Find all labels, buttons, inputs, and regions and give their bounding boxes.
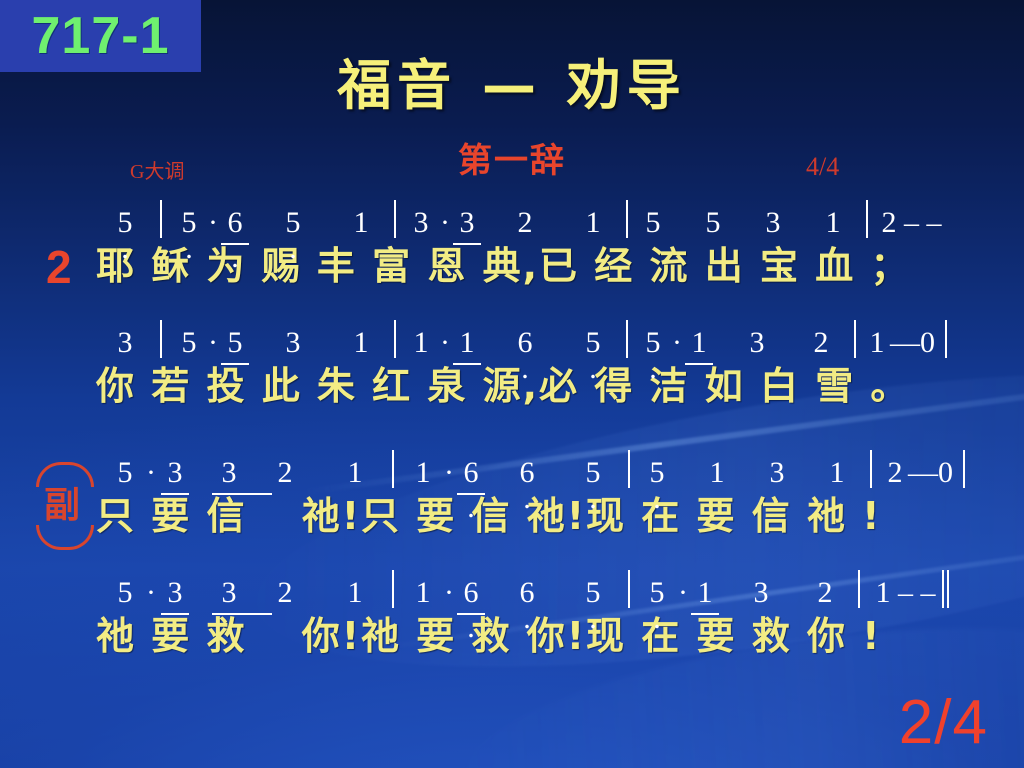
key-signature-label: G大调 [130,155,184,184]
slide-canvas: 717-1 福音 — 劝导 第一辞 G大调 4/4 2 副 5. 5. · 6.… [0,0,1024,768]
music-system-3: 5 · 3 3 2 1 1 · 6. 6. 5. 5. 1 3 1 [0,448,1024,542]
notation-row-3: 5 · 3 3 2 1 1 · 6. 6. 5. 5. 1 3 1 [0,448,1024,490]
lyrics-row-3: 只 要 信 祂!只 要 信 祂!现 在 要 信 祂 ! [0,490,1024,542]
time-signature-label: 4/4 [806,152,839,182]
hymn-number-label: 717-1 [32,10,170,62]
lyrics-row-4: 祂 要 救 你!祂 要 救 你!现 在 要 救 你 ! [0,610,1024,662]
lyrics-row-1: 耶 稣 为 赐 丰 富 恩 典,已 经 流 出 宝 血 ； [0,240,1024,292]
page-indicator: 2/4 [899,687,988,758]
notation-row-1: 5. 5. · 6. 5. 1 3 · 3 2 1 5 5 3 1 2 – – [0,198,1024,240]
notation-row-4: 5 · 3 3 2 1 1 · 6. 6. 5. 5. · 1 3 2 [0,568,1024,610]
page-title: 福音 — 劝导 [0,58,1024,115]
music-system-4: 5 · 3 3 2 1 1 · 6. 6. 5. 5. · 1 3 2 [0,568,1024,662]
notation-row-2: 3 5 · 5 3 1 1 · 1 6. 5. 5. · 1 3 2 [0,318,1024,360]
music-system-2: 3 5 · 5 3 1 1 · 1 6. 5. 5. · 1 3 2 [0,318,1024,412]
music-system-1: 5. 5. · 6. 5. 1 3 · 3 2 1 5 5 3 1 2 – – [0,198,1024,292]
